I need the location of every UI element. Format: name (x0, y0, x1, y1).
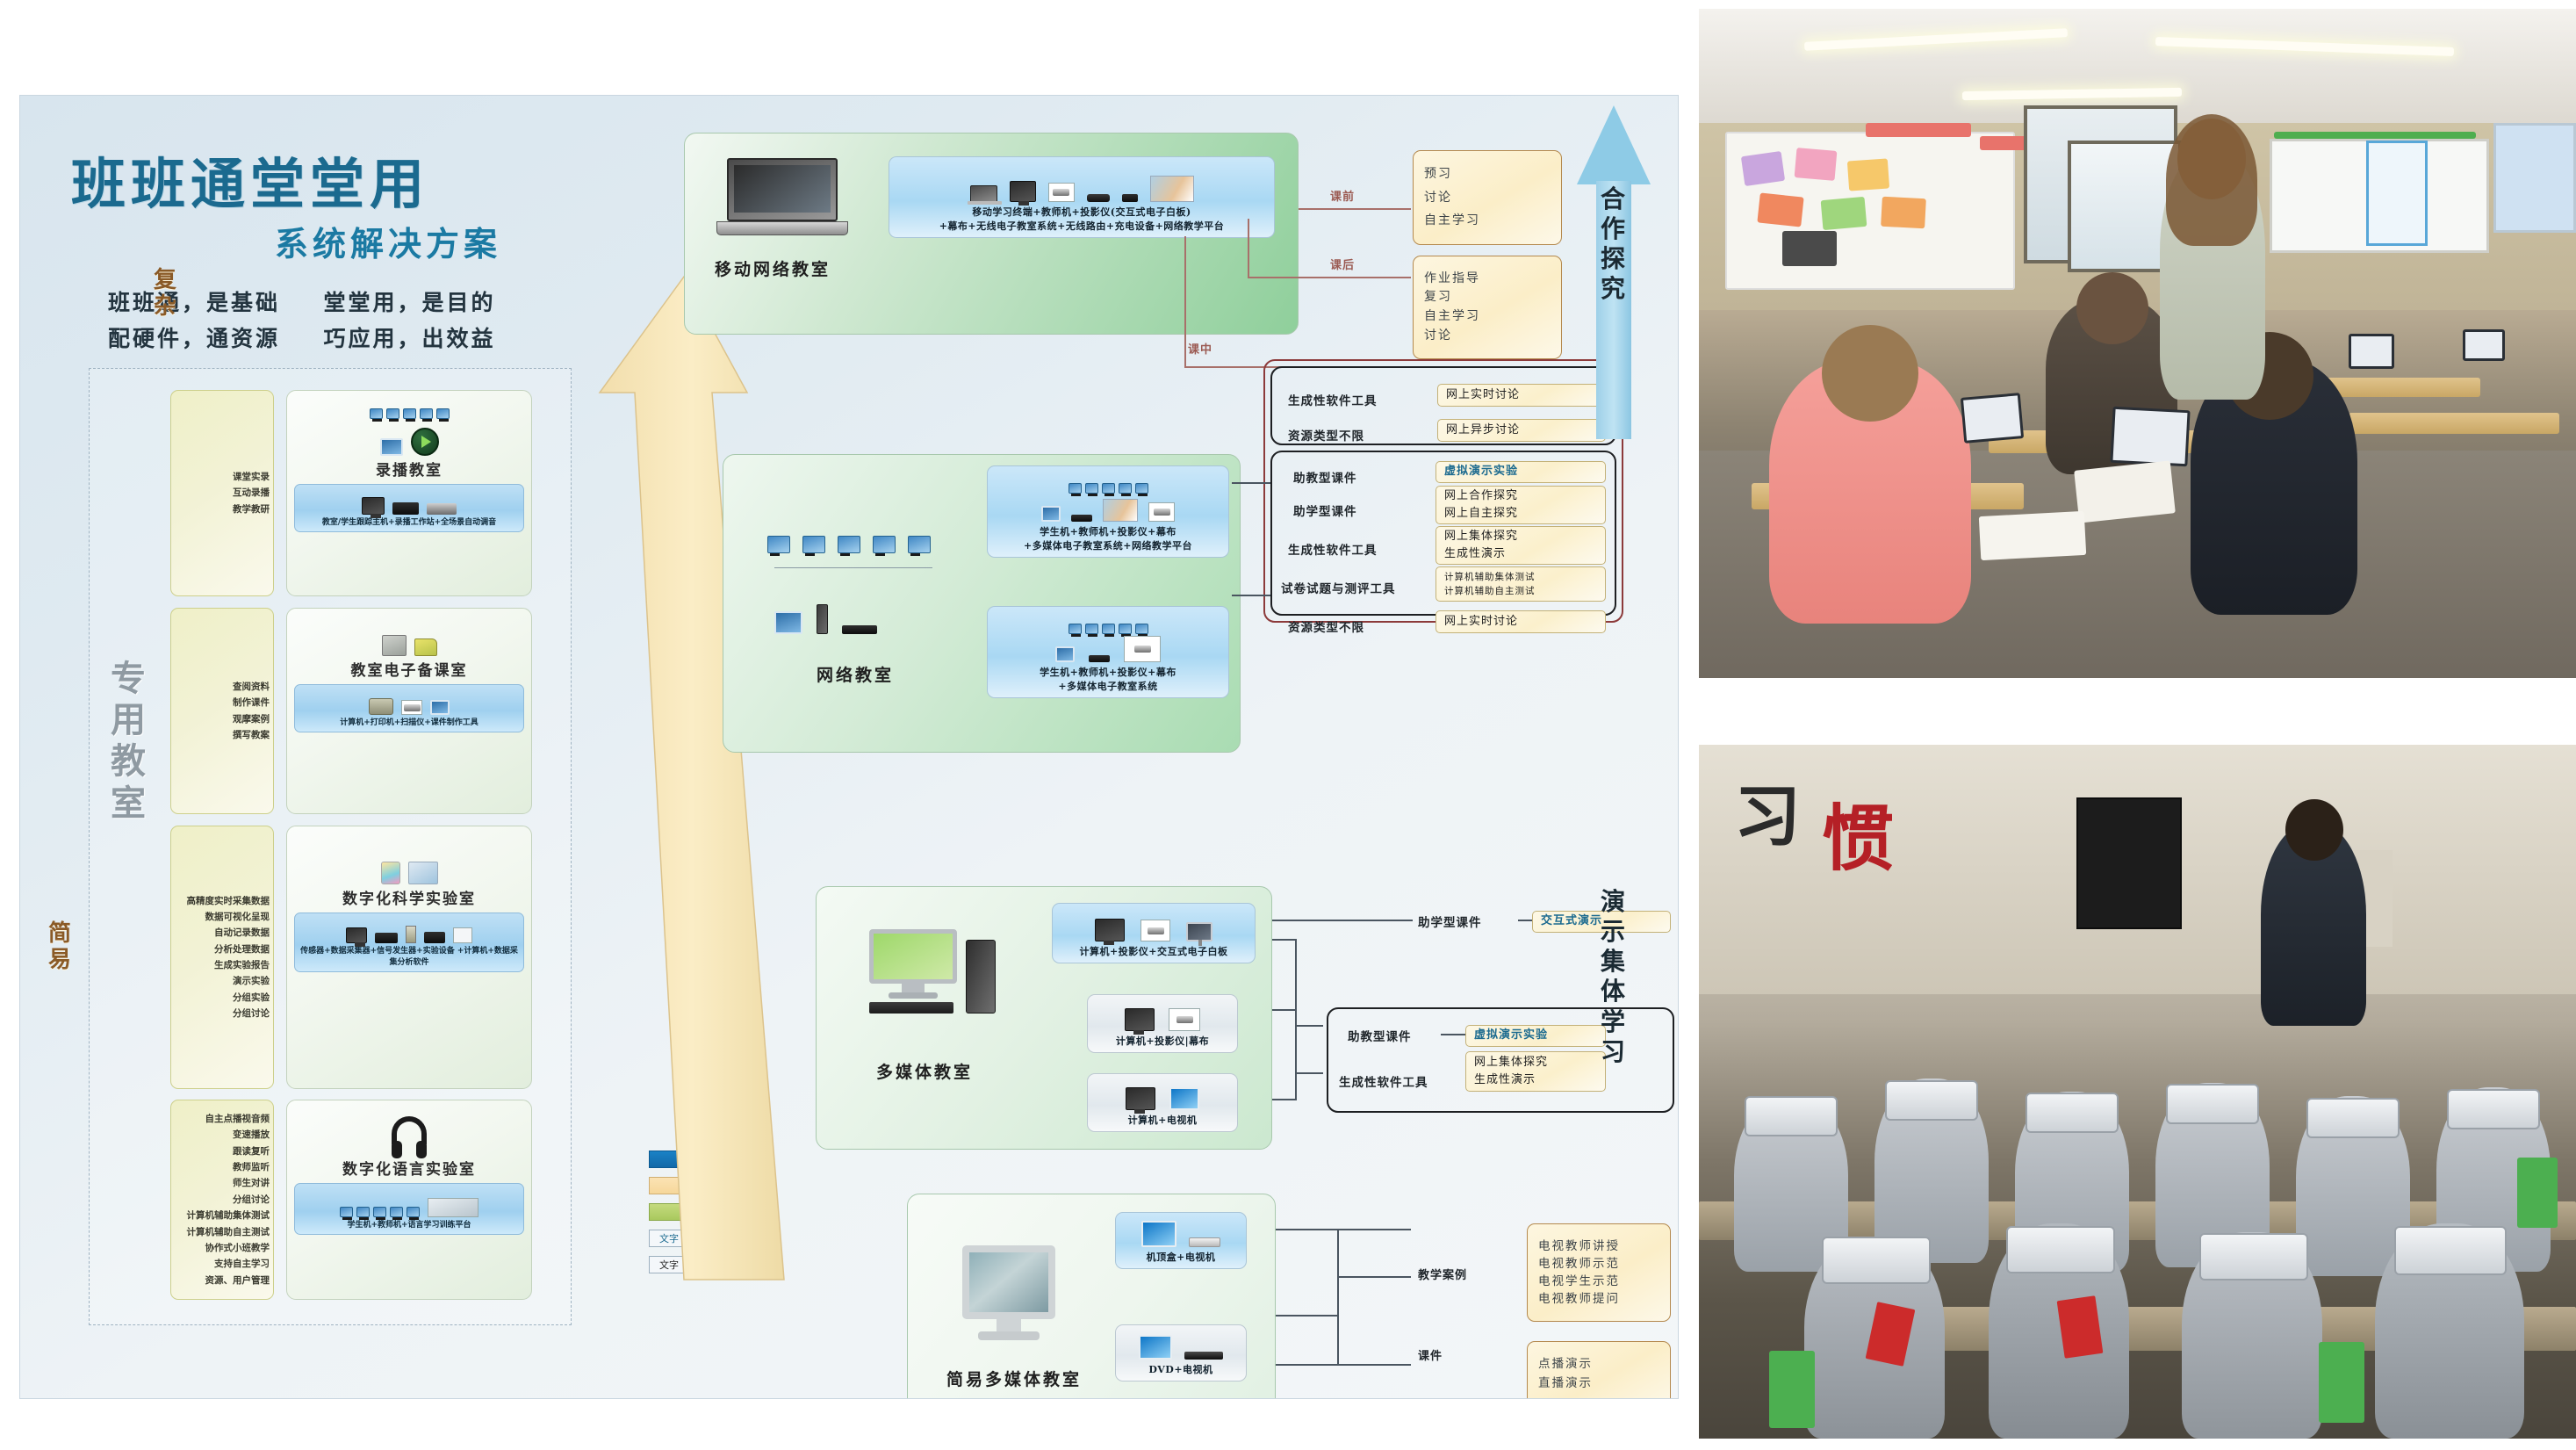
function-item: 数据可视化呈现 (175, 909, 270, 925)
activity-item: 网上集体探究 (1474, 1054, 1597, 1071)
room-name: 简易多媒体教室 (946, 1367, 1082, 1390)
activity-item: 计算机辅助集体测试 (1444, 570, 1597, 584)
activity-item: 生成性演示 (1444, 545, 1597, 563)
activity-item: 电视学生示范 (1538, 1273, 1659, 1290)
classroom-vr-photo: 习 惯 (1699, 745, 2576, 1439)
function-item: 分析处理数据 (175, 941, 270, 957)
function-item: 高精度实时采集数据 (175, 893, 270, 909)
network-pc-cluster-icon (767, 536, 932, 568)
resource-label: 生成性软件工具 (1288, 540, 1378, 558)
function-item: 自主点播视音频 (175, 1111, 270, 1127)
activity-item: 自主学习 (1424, 307, 1551, 327)
room-name: 多媒体教室 (876, 1059, 973, 1083)
complexity-label-complex: 复杂 (154, 268, 178, 321)
classroom-tablets-photo (1699, 9, 2576, 678)
legend-swatch-text-blue: 文字 (649, 1230, 689, 1247)
hardware-caption: 学生机+教师机+投影仪+幕布 +多媒体电子教室系统 (1040, 666, 1176, 694)
function-item: 师生对讲 (175, 1175, 270, 1191)
activity-item: 讨论 (1424, 186, 1551, 210)
record-classroom-icon (370, 396, 450, 419)
function-item: 撰写教案 (175, 727, 270, 743)
connector-group-1 (1441, 1034, 1465, 1035)
activity-item: 生成性演示 (1474, 1071, 1597, 1089)
card-science-lab[interactable]: 数字化科学实验室 传感器+数据采集器+信号发生器+实验设备 +计算机+数据采集分… (286, 826, 532, 1089)
card-language-lab[interactable]: 数字化语言实验室 学生机+教师机+语言学习训练平台 (286, 1100, 532, 1300)
activity-item: 虚拟演示实验 (1474, 1027, 1597, 1044)
card-title: 教室电子备课室 (351, 658, 468, 680)
function-item: 自动记录数据 (175, 925, 270, 941)
room-name: 移动网络教室 (715, 256, 831, 280)
hardware-caption: 计算机+打印机+扫描仪+课件制作工具 (340, 718, 479, 729)
activity-item: 网上自主探究 (1444, 505, 1597, 523)
function-item: 跟读复听 (175, 1143, 270, 1159)
crt-monitor-icon (962, 1245, 1055, 1340)
function-item: 支持自主学习 (175, 1256, 270, 1272)
legend-swatch-text-black: 文字 (649, 1256, 689, 1273)
activity-chip[interactable]: 网上合作探究 网上自主探究 (1436, 486, 1606, 524)
poster-page: 班班通堂堂用 系统解决方案 班班通，是基础 堂堂用，是目的 配硬件，通资源 巧应… (0, 0, 2576, 1450)
server-icon (774, 604, 877, 634)
connector-multi-1 (1272, 920, 1413, 921)
function-item: 分组实验 (175, 990, 270, 1006)
connector-simple-2 (1276, 1315, 1337, 1317)
legend-label: 硬件环境 (702, 1151, 756, 1169)
hardware-box-mobile: 移动学习终端+教师机+投影仪(交互式电子白板) +幕布+无线电子教室系统+无线路… (889, 156, 1275, 238)
activity-item: 点播演示 (1538, 1355, 1659, 1374)
room-simple-multimedia[interactable]: 简易多媒体教室 机顶盒+电视机 DVD+电视机 (907, 1194, 1276, 1399)
special-row-science: 高精度实时采集数据 数据可视化呈现 自动记录数据 分析处理数据 生成实验报告 演… (170, 826, 532, 1089)
activity-item: 网上实时讨论 (1446, 386, 1597, 404)
function-list-prep: 查阅资料 制作课件 观摩案例 撰写教案 (170, 608, 274, 814)
resource-label: 助学型课件 (1293, 501, 1357, 519)
activity-item: 网上实时讨论 (1444, 613, 1597, 631)
activity-item: 网上合作探究 (1444, 487, 1597, 505)
connector-simple-3 (1276, 1364, 1411, 1366)
legend-swatch-activity (649, 1177, 689, 1194)
hardware-box-multimedia-3: 计算机+电视机 (1087, 1073, 1238, 1132)
connector-post-class (1248, 277, 1411, 278)
hardware-box-multimedia-1: 计算机+投影仪+交互式电子白板 (1052, 903, 1256, 963)
function-item: 演示实验 (175, 973, 270, 989)
room-network[interactable]: 网络教室 学生机+教师机+投影仪+幕布 +多媒体电子教室系统+网络教学平台 (723, 454, 1241, 753)
function-item: 教学教研 (175, 501, 270, 517)
label-demonstration-group-learning: 演示集体学习 (1596, 887, 1631, 1067)
function-item: 课堂实录 (175, 469, 270, 485)
legend-label: 教学活动 (702, 1177, 756, 1195)
connector-multi-6 (1295, 1072, 1323, 1074)
hardware-caption: 传感器+数据采集器+信号发生器+实验设备 +计算机+数据采集分析软件 (299, 946, 519, 969)
lesson-prep-icon (382, 614, 437, 656)
connector-multi-v (1295, 939, 1297, 1099)
resource-label: 试卷试题与测评工具 (1281, 579, 1396, 596)
activity-item: 复习 (1424, 288, 1551, 307)
complexity-label-simple: 简易 (48, 921, 73, 974)
resource-label: 助教型课件 (1293, 468, 1357, 486)
resource-label: 资源类型不限 (1288, 426, 1364, 444)
function-list-record: 课堂实录 互动录播 教学教研 (170, 390, 274, 596)
label-collaborative-inquiry: 合作探究 (1596, 184, 1631, 305)
function-item: 制作课件 (175, 695, 270, 711)
activity-item: 电视教师讲授 (1538, 1237, 1659, 1255)
function-item: 教师监听 (175, 1159, 270, 1175)
hardware-caption: 学生机+教师机+投影仪+幕布 +多媒体电子教室系统+网络教学平台 (1024, 525, 1192, 553)
activity-box-pre-class[interactable]: 预习 讨论 自主学习 (1413, 150, 1562, 245)
activity-item: 网上集体探究 (1444, 528, 1597, 545)
room-mobile-network[interactable]: 移动网络教室 移动学习终端+教师机+投影仪(交互式电子白板) +幕布+无线电子教… (684, 133, 1299, 335)
resource-label: 助学型课件 (1418, 913, 1482, 930)
connector-simple-v (1337, 1229, 1339, 1364)
activity-box-teaching-case[interactable]: 电视教师讲授 电视教师示范 电视学生示范 电视教师提问 (1527, 1223, 1671, 1322)
activity-item: 网上异步讨论 (1446, 422, 1597, 439)
connector-post-v (1248, 219, 1249, 277)
legend-row-hardware: 硬件环境 (649, 1150, 851, 1169)
function-item: 生成实验报告 (175, 957, 270, 973)
activity-chip[interactable]: 网上实时讨论 (1436, 610, 1606, 633)
room-multimedia[interactable]: 多媒体教室 计算机+投影仪+交互式电子白板 计算机+投影仪|幕布 (816, 886, 1272, 1150)
activity-item: 直播演示 (1538, 1374, 1659, 1394)
connector-simple-4 (1337, 1276, 1411, 1278)
science-lab-icon (381, 832, 438, 884)
card-title: 数字化语言实验室 (342, 1157, 476, 1179)
function-item: 分组讨论 (175, 1006, 270, 1021)
slogan-line2b: 巧应用，出效益 (323, 321, 495, 357)
slogan-line1b: 堂堂用，是目的 (323, 285, 495, 321)
legend-row-activity: 教学活动 (649, 1176, 851, 1195)
activity-box-post-class[interactable]: 作业指导 复习 自主学习 讨论 (1413, 256, 1562, 359)
hardware-caption: 计算机+投影仪+交互式电子白板 (1080, 945, 1228, 959)
hardware-box-network-top: 学生机+教师机+投影仪+幕布 +多媒体电子教室系统+网络教学平台 (987, 465, 1229, 558)
function-item: 互动录播 (175, 485, 270, 501)
function-list-science: 高精度实时采集数据 数据可视化呈现 自动记录数据 分析处理数据 生成实验报告 演… (170, 826, 274, 1089)
special-classroom-label: 专用教室 (102, 659, 156, 825)
hardware-box-network-bottom: 学生机+教师机+投影仪+幕布 +多媒体电子教室系统 (987, 606, 1229, 698)
hardware-box-multimedia-2: 计算机+投影仪|幕布 (1087, 994, 1238, 1053)
special-row-record: 课堂实录 互动录播 教学教研 录播教室 (170, 390, 532, 596)
resource-label: 生成性软件工具 (1339, 1072, 1428, 1090)
activity-item: 自主学习 (1424, 209, 1551, 233)
legend-swatch-hardware (649, 1151, 689, 1168)
activity-chip[interactable]: 虚拟演示实验 (1465, 1025, 1606, 1047)
activity-item: 预习 (1424, 162, 1551, 186)
page-title: 班班通堂堂用 (71, 140, 429, 219)
hardware-strip: 教室/学生跟踪主机+录播工作站+全场景自动调音 (294, 484, 524, 532)
activity-item: 电视教师提问 (1538, 1290, 1659, 1308)
connector-net-bottom (1232, 595, 1270, 596)
slogan-line2a: 配硬件，通资源 (108, 321, 280, 357)
function-item: 变速播放 (175, 1127, 270, 1143)
hardware-caption: 教室/学生跟踪主机+录播工作站+全场景自动调音 (322, 517, 496, 529)
connector-multi-5 (1295, 1025, 1323, 1027)
resource-label: 资源类型不限 (1288, 617, 1364, 635)
card-lesson-prep-room[interactable]: 教室电子备课室 计算机+打印机+扫描仪+课件制作工具 (286, 608, 532, 814)
legend-row-text-teach: 文字 以教为主 (649, 1229, 851, 1248)
activity-item: 电视教师示范 (1538, 1255, 1659, 1273)
legend-swatch-function (649, 1203, 689, 1221)
hardware-caption: DVD+电视机 (1148, 1363, 1212, 1377)
card-record-classroom[interactable]: 录播教室 教室/学生跟踪主机+录播工作站+全场景自动调音 (286, 390, 532, 596)
resource-label: 生成性软件工具 (1288, 391, 1378, 408)
edge-label-post-class: 课后 (1330, 256, 1355, 272)
hardware-caption: 移动学习终端+教师机+投影仪(交互式电子白板) +幕布+无线电子教室系统+无线路… (939, 206, 1225, 234)
slogan-line1a: 班班通，是基础 (108, 285, 280, 321)
connector-multi-top-chip (1518, 920, 1532, 921)
connector-simple-1 (1276, 1229, 1411, 1230)
function-item: 资源、用户管理 (175, 1273, 270, 1288)
activity-item: 计算机辅助自主测试 (1444, 584, 1597, 598)
connector-multi-4 (1272, 1099, 1297, 1100)
legend: 硬件环境 教学活动 功能 文字 以教为主 文字 以学为主 (649, 1150, 851, 1281)
card-title: 数字化科学实验室 (342, 886, 476, 908)
record-server-icon (380, 419, 439, 456)
page-subtitle: 系统解决方案 (275, 217, 501, 265)
edge-label-teaching-case: 教学案例 (1418, 1266, 1467, 1282)
activity-box-courseware[interactable]: 点播演示 直播演示 (1527, 1341, 1671, 1399)
activity-item: 作业指导 (1424, 270, 1551, 289)
connector-multi-3 (1272, 1009, 1297, 1011)
room-name: 网络教室 (817, 662, 894, 686)
function-list-language: 自主点播视音频 变速播放 跟读复听 教师监听 师生对讲 分组讨论 计算机辅助集体… (170, 1100, 274, 1300)
legend-label: 功能 (702, 1203, 729, 1222)
function-item: 计算机辅助自主测试 (175, 1224, 270, 1240)
connector-pre-class (1299, 208, 1411, 210)
resource-label: 助教型课件 (1348, 1027, 1412, 1044)
function-item: 查阅资料 (175, 679, 270, 695)
hardware-caption: 计算机+投影仪|幕布 (1116, 1035, 1209, 1049)
language-lab-icon (392, 1106, 427, 1155)
function-item: 协作式小班教学 (175, 1240, 270, 1256)
laptop-icon (716, 158, 848, 239)
hardware-strip: 计算机+打印机+扫描仪+课件制作工具 (294, 684, 524, 732)
activity-item: 虚拟演示实验 (1444, 463, 1597, 480)
special-row-language: 自主点播视音频 变速播放 跟读复听 教师监听 师生对讲 分组讨论 计算机辅助集体… (170, 1100, 532, 1300)
edge-label-courseware: 课件 (1418, 1346, 1443, 1363)
activity-chip[interactable]: 网上集体探究 生成性演示 (1465, 1051, 1606, 1092)
hardware-caption: 学生机+教师机+语言学习训练平台 (347, 1220, 471, 1231)
connector-multi-2 (1272, 939, 1297, 941)
hardware-caption: 机顶盒+电视机 (1147, 1251, 1216, 1265)
card-title: 录播教室 (376, 458, 443, 480)
legend-row-text-learn: 文字 以学为主 (649, 1255, 851, 1274)
hardware-strip: 传感器+数据采集器+信号发生器+实验设备 +计算机+数据采集分析软件 (294, 913, 524, 972)
activity-chip[interactable]: 计算机辅助集体测试 计算机辅助自主测试 (1436, 566, 1606, 602)
connector-net-top (1232, 482, 1270, 484)
hardware-caption: 计算机+电视机 (1128, 1114, 1198, 1128)
hardware-strip: 学生机+教师机+语言学习训练平台 (294, 1183, 524, 1235)
legend-row-function: 功能 (649, 1202, 851, 1222)
activity-item: 讨论 (1424, 327, 1551, 346)
hardware-box-simple-1: 机顶盒+电视机 (1115, 1212, 1247, 1269)
function-item: 计算机辅助集体测试 (175, 1208, 270, 1223)
special-classroom-panel: 专用教室 课堂实录 互动录播 教学教研 (89, 368, 572, 1325)
function-item: 分组讨论 (175, 1192, 270, 1208)
activity-chip[interactable]: 网上集体探究 生成性演示 (1436, 526, 1606, 565)
edge-label-pre-class: 课前 (1330, 187, 1355, 204)
solution-poster: 班班通堂堂用 系统解决方案 班班通，是基础 堂堂用，是目的 配硬件，通资源 巧应… (19, 95, 1679, 1399)
legend-label: 以教为主 (702, 1230, 756, 1248)
hardware-box-simple-2: DVD+电视机 (1115, 1324, 1247, 1381)
legend-label: 以学为主 (702, 1256, 756, 1274)
desktop-computer-icon (869, 929, 996, 1014)
function-item: 观摩案例 (175, 711, 270, 727)
edge-label-in-class: 课中 (1188, 340, 1212, 357)
special-row-prep: 查阅资料 制作课件 观摩案例 撰写教案 教室电子备课室 (170, 608, 532, 814)
activity-chip[interactable]: 虚拟演示实验 (1436, 461, 1606, 483)
connector-inclass-v (1184, 236, 1186, 366)
